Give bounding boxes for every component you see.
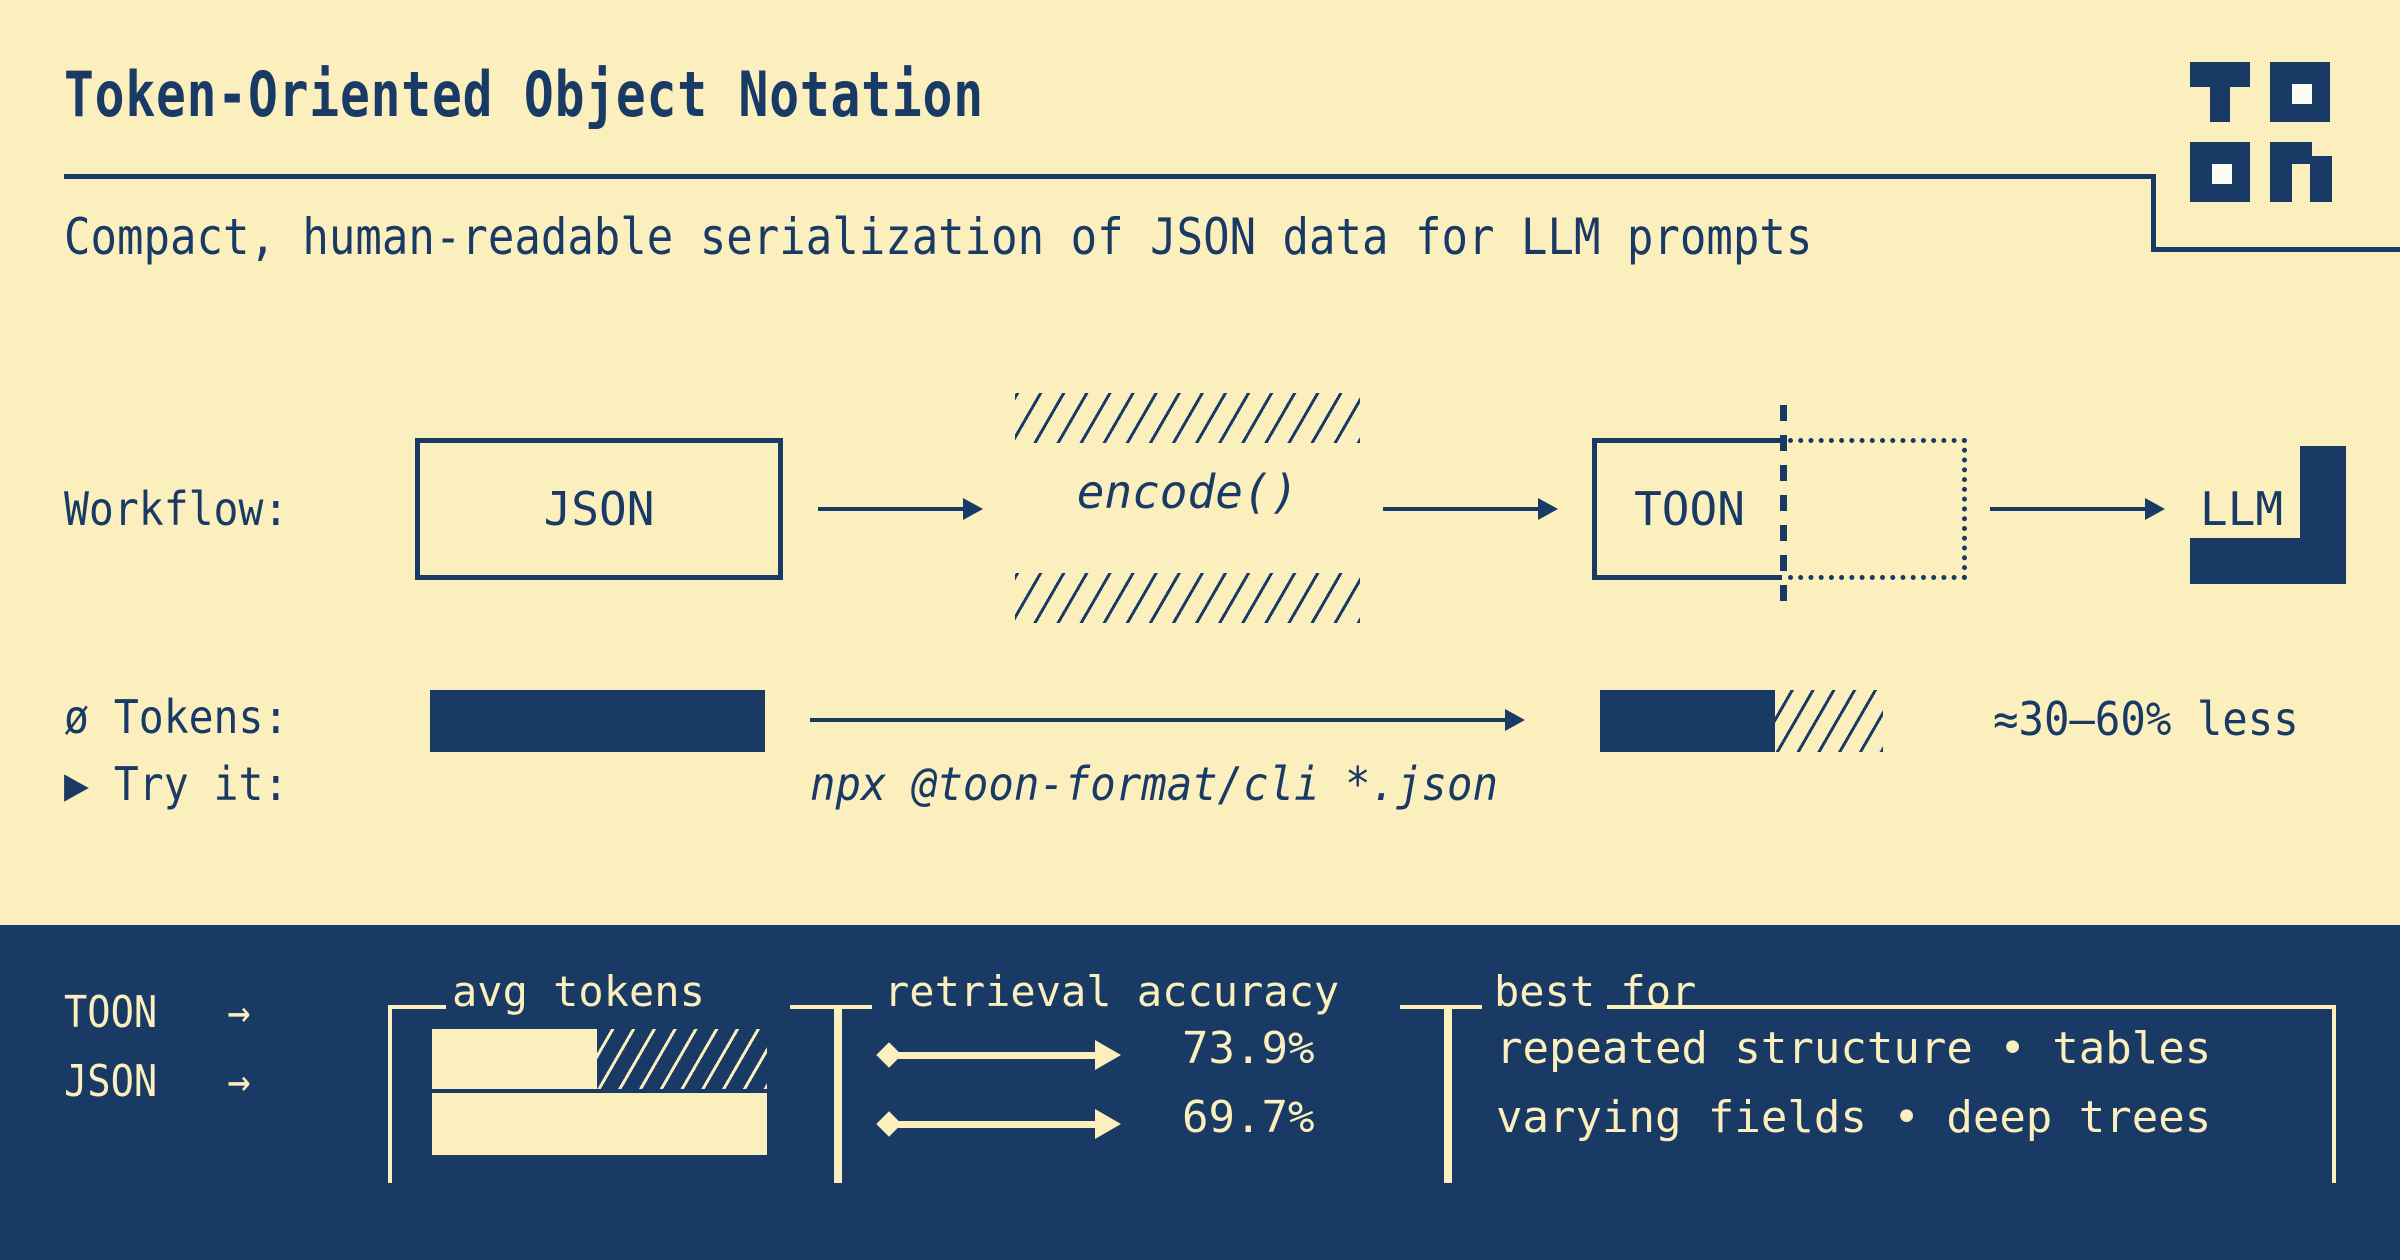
panel-row-json-arrow-icon: → [227, 1056, 250, 1107]
avg-tokens-bracket-top-left [388, 1005, 446, 1009]
panel-row-label-toon: TOON → [64, 987, 251, 1038]
workflow-arrow-2-head-icon [1538, 498, 1558, 520]
best-for-bracket-top-left [1448, 1005, 1482, 1009]
tokens-toon-bar-solid [1600, 690, 1775, 752]
workflow-toon-dotted-half [1788, 438, 1967, 580]
encode-hatch-bottom-icon [1015, 573, 1360, 623]
logo-letter-t-icon [2190, 62, 2250, 87]
summary-panel: TOON → JSON → avg tokens retrieval accur… [0, 925, 2400, 1260]
panel-row-json-name: JSON [64, 1056, 157, 1107]
page-title: Token-Oriented Object Notation [64, 58, 984, 131]
header-rule-left [64, 174, 2156, 179]
avg-tokens-toon-bar-hatch-icon [597, 1029, 767, 1089]
best-for-bracket-right [2332, 1005, 2336, 1183]
workflow-encode-label: encode() [1015, 465, 1360, 519]
encode-hatch-top-icon [1015, 393, 1360, 443]
toon-logo [2190, 62, 2348, 204]
best-for-title: best for [1494, 967, 1696, 1016]
tokens-label: ø Tokens: [64, 690, 288, 744]
try-it-label: ▶ Try it: [64, 757, 288, 811]
best-for-bracket-left [1448, 1005, 1452, 1183]
retrieval-toon-value: 73.9% [1182, 1023, 1314, 1074]
header-rule-step [2151, 174, 2156, 252]
tokens-arrow-head-icon [1505, 709, 1525, 731]
retrieval-accuracy-title: retrieval accuracy [884, 967, 1339, 1016]
header-rule-right [2151, 247, 2400, 252]
retrieval-bracket-left [838, 1005, 842, 1183]
poster-root: Token-Oriented Object Notation Compact, … [0, 0, 2400, 1260]
avg-tokens-json-bar [432, 1093, 767, 1155]
retrieval-json-arrow-line [898, 1121, 1098, 1128]
workflow-arrow-3-line [1990, 507, 2150, 511]
retrieval-json-arrow-head-icon [1095, 1109, 1121, 1139]
workflow-arrow-1-line [818, 507, 968, 511]
workflow-encode-node: encode() [1015, 393, 1360, 623]
tokens-json-bar [430, 690, 765, 752]
workflow-arrow-3-head-icon [2145, 498, 2165, 520]
best-for-toon-text: repeated structure • tables [1496, 1023, 2211, 1074]
panel-row-toon-name: TOON [64, 987, 157, 1038]
tokens-toon-bar-hatch-icon [1775, 690, 1883, 752]
retrieval-json-value: 69.7% [1182, 1092, 1314, 1143]
retrieval-bracket-top-left [838, 1005, 872, 1009]
best-for-json-text: varying fields • deep trees [1496, 1092, 2211, 1143]
workflow-json-node: JSON [415, 438, 783, 580]
panel-row-label-json: JSON → [64, 1056, 251, 1107]
logo-letter-n-right-icon [2310, 156, 2332, 202]
workflow-llm-label: LLM [2200, 482, 2283, 536]
avg-tokens-bracket-left [388, 1005, 392, 1183]
avg-tokens-toon-bar-solid [432, 1029, 597, 1089]
llm-corner-vertical-icon [2300, 446, 2346, 538]
best-for-bracket-top-right [1607, 1005, 2336, 1009]
panel-row-toon-arrow-icon: → [227, 987, 250, 1038]
avg-tokens-title: avg tokens [452, 967, 705, 1016]
workflow-toon-solid-half: TOON [1592, 438, 1782, 580]
logo-letter-t-stem-icon [2210, 87, 2230, 122]
retrieval-toon-arrow-head-icon [1095, 1040, 1121, 1070]
tokens-savings-text: ≈30–60% less [1993, 692, 2299, 746]
page-subtitle: Compact, human-readable serialization of… [64, 208, 1812, 266]
workflow-toon-divider-icon [1780, 405, 1787, 613]
logo-letter-o1-hole-icon [2292, 84, 2312, 104]
retrieval-toon-arrow-line [898, 1052, 1098, 1059]
workflow-arrow-2-line [1383, 507, 1543, 511]
logo-letter-o2-hole-icon [2212, 164, 2232, 184]
workflow-json-label: JSON [544, 482, 655, 536]
workflow-label: Workflow: [64, 482, 288, 536]
tokens-arrow-line [810, 718, 1510, 722]
logo-letter-n-top-icon [2270, 142, 2312, 164]
workflow-arrow-1-head-icon [963, 498, 983, 520]
avg-tokens-bracket-top-right [790, 1005, 838, 1009]
llm-corner-horizontal-icon [2190, 538, 2346, 584]
try-it-command[interactable]: npx @toon-format/cli *.json [810, 757, 1498, 811]
workflow-toon-label: TOON [1634, 482, 1745, 536]
